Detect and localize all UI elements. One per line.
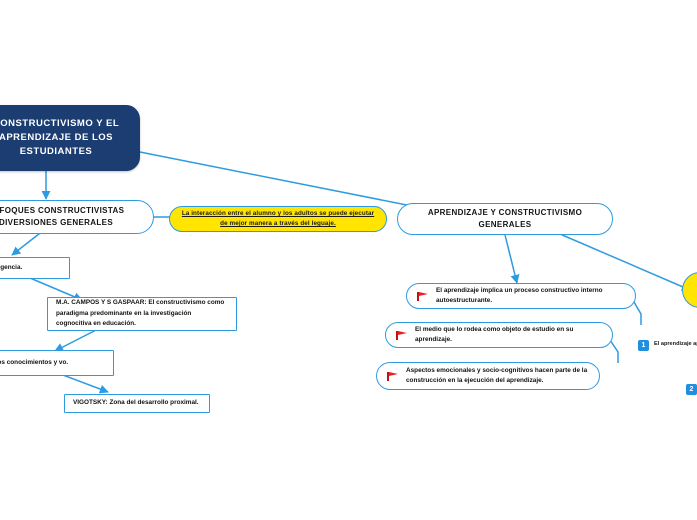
left-item-4-label: VIGOTSKY: Zona del desarrollo proximal. <box>73 398 199 409</box>
mindmap-canvas: CONSTRUCTIVISMO Y EL APRENDIZAJE DE LOS … <box>0 0 697 520</box>
right-item-3[interactable]: Aspectos emocionales y socio-cognitivos … <box>376 362 600 390</box>
branch-left-node[interactable]: ENFOQUES CONSTRUCTIVISTAS DIVERSIONES GE… <box>0 200 154 234</box>
left-item-3[interactable]: imilación de los conocimientos y vo. <box>0 350 114 376</box>
far-right-item-2[interactable]: 2 <box>686 384 697 400</box>
number-badge-1: 1 <box>638 340 649 351</box>
right-item-1-label: El aprendizaje implica un proceso constr… <box>436 286 625 307</box>
red-flag-icon <box>417 291 429 302</box>
root-node[interactable]: CONSTRUCTIVISMO Y EL APRENDIZAJE DE LOS … <box>0 105 140 171</box>
left-item-1[interactable]: de la inteligencia. <box>0 257 70 279</box>
right-item-2[interactable]: El medio que lo rodea como objeto de est… <box>385 322 613 348</box>
root-node-label: CONSTRUCTIVISMO Y EL APRENDIZAJE DE LOS … <box>0 117 129 158</box>
far-right-item-1-label: El aprendizaje aprende desde <box>654 340 697 349</box>
left-item-3-label: imilación de los conocimientos y vo. <box>0 358 68 369</box>
left-item-1-label: de la inteligencia. <box>0 263 22 274</box>
right-item-2-label: El medio que lo rodea como objeto de est… <box>415 325 602 346</box>
number-badge-2: 2 <box>686 384 697 395</box>
left-item-4[interactable]: VIGOTSKY: Zona del desarrollo proximal. <box>64 394 210 413</box>
red-flag-icon <box>387 371 399 382</box>
right-item-3-label: Aspectos emocionales y socio-cognitivos … <box>406 366 589 387</box>
right-item-1[interactable]: El aprendizaje implica un proceso constr… <box>406 283 636 309</box>
highlight-label: La interacción entre el alumno y los adu… <box>180 209 376 229</box>
far-right-item-1[interactable]: 1 El aprendizaje aprende desde <box>638 340 697 356</box>
red-flag-icon <box>396 330 408 341</box>
branch-right-label: APRENDIZAJE Y CONSTRUCTIVISMO GENERALES <box>410 207 600 231</box>
far-right-highlight-node[interactable] <box>682 272 697 308</box>
branch-right-node[interactable]: APRENDIZAJE Y CONSTRUCTIVISMO GENERALES <box>397 203 613 235</box>
connector-layer <box>0 0 697 520</box>
branch-left-label: ENFOQUES CONSTRUCTIVISTAS DIVERSIONES GE… <box>0 205 141 229</box>
left-item-2[interactable]: M.A. CAMPOS Y S GASPAAR: El constructivi… <box>47 297 237 331</box>
left-item-2-label: M.A. CAMPOS Y S GASPAAR: El constructivi… <box>56 298 228 330</box>
highlight-node[interactable]: La interacción entre el alumno y los adu… <box>169 206 387 232</box>
